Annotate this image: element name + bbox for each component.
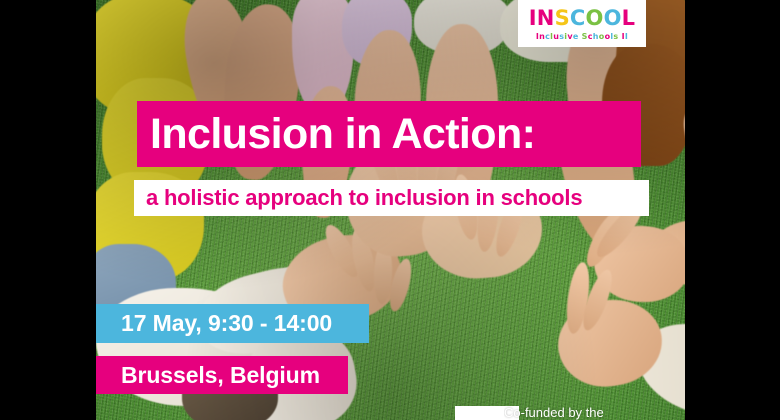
- inscool-logo[interactable]: INSCOOL Inclusive Schools II: [518, 0, 646, 47]
- poster-title: Inclusion in Action:: [150, 113, 535, 156]
- poster-title-banner: Inclusion in Action:: [137, 101, 641, 167]
- eu-funding-text: Co-funded by the: [504, 406, 684, 420]
- event-location-banner: Brussels, Belgium: [96, 356, 348, 394]
- event-date-banner: 17 May, 9:30 - 14:00: [96, 304, 369, 343]
- event-location-text: Brussels, Belgium: [121, 364, 320, 387]
- letterbox-bar-left: [0, 0, 96, 420]
- poster-subtitle: a holistic approach to inclusion in scho…: [146, 187, 582, 209]
- event-date-text: 17 May, 9:30 - 14:00: [121, 312, 332, 335]
- poster-subtitle-banner: a holistic approach to inclusion in scho…: [134, 180, 649, 216]
- inscool-tagline: Inclusive Schools II: [536, 33, 628, 41]
- event-poster: INSCOOL Inclusive Schools II Inclusion i…: [0, 0, 780, 420]
- inscool-wordmark: INSCOOL: [529, 8, 635, 29]
- letterbox-bar-right: [685, 0, 780, 420]
